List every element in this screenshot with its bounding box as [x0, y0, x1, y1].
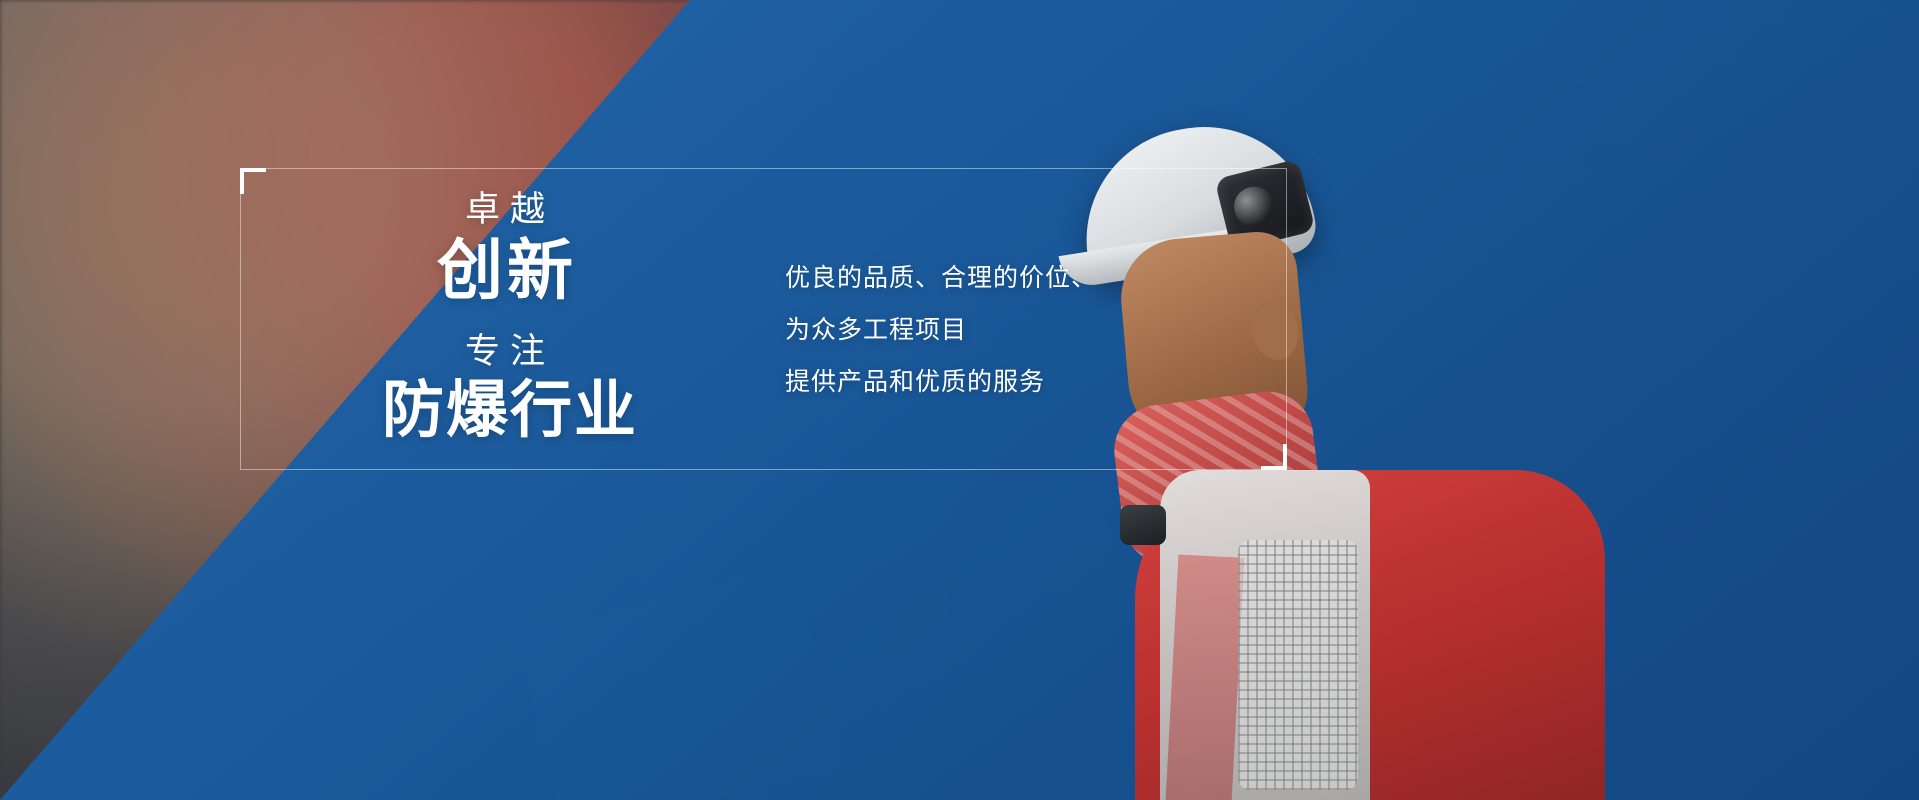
- frame-corner-top-left-vertical: [240, 168, 244, 194]
- frame-corner-bottom-right-vertical: [1283, 444, 1287, 470]
- headline-block: 卓越 创新 专注 防爆行业: [380, 190, 630, 449]
- vest-buckle-icon: [1120, 505, 1166, 545]
- headline-eyebrow-2: 专注: [380, 332, 630, 372]
- hero-banner: 卓越 创新 专注 防爆行业 优良的品质、合理的价位、 为众多工程项目 提供产品和…: [0, 0, 1919, 800]
- description-paragraph: 优良的品质、合理的价位、 为众多工程项目 提供产品和优质的服务: [785, 252, 1097, 408]
- paragraph-line-3: 提供产品和优质的服务: [785, 356, 1097, 408]
- paragraph-line-1: 优良的品质、合理的价位、: [785, 252, 1097, 304]
- paragraph-line-2: 为众多工程项目: [785, 304, 1097, 356]
- vest-strap: [1166, 554, 1245, 800]
- headline-title-1: 创新: [380, 232, 630, 310]
- headline-title-2: 防爆行业: [380, 374, 630, 448]
- headline-eyebrow-1: 卓越: [380, 190, 630, 230]
- vest-mesh-panel: [1238, 540, 1358, 790]
